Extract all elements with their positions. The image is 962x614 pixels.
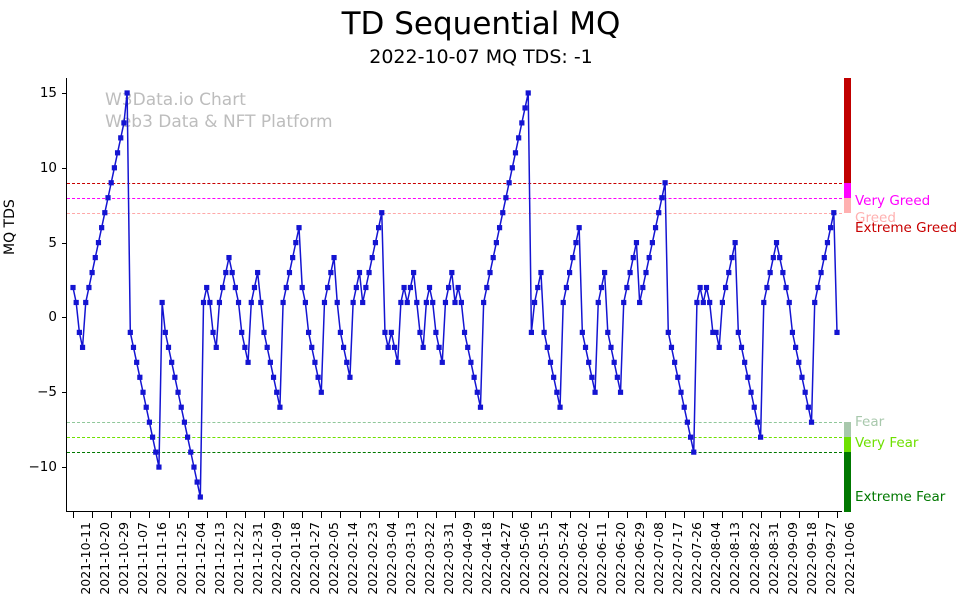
x-tick-label: 2022-09-09 [785, 522, 800, 595]
x-tick-mark [627, 512, 628, 518]
y-tick-label: 15 [17, 85, 57, 101]
x-tick-label: 2021-12-22 [231, 522, 246, 595]
x-tick-label: 2022-02-05 [326, 522, 341, 595]
x-tick-mark [264, 512, 265, 518]
y-tick-mark [62, 168, 68, 169]
x-tick-label: 2021-10-11 [78, 522, 93, 595]
x-tick-label: 2022-05-06 [517, 522, 532, 595]
x-tick-mark [302, 512, 303, 518]
y-tick-label: 0 [17, 309, 57, 325]
x-tick-mark [360, 512, 361, 518]
zone-label-fear: Fear [855, 414, 884, 430]
x-tick-mark [398, 512, 399, 518]
x-tick-label: 2021-12-13 [212, 522, 227, 595]
zone-band-extreme-fear [844, 452, 851, 512]
x-tick-mark [531, 512, 532, 518]
x-tick-mark [665, 512, 666, 518]
x-tick-label: 2022-01-27 [307, 522, 322, 595]
x-tick-mark [207, 512, 208, 518]
x-tick-label: 2022-10-06 [842, 522, 857, 595]
x-tick-mark [188, 512, 189, 518]
zone-label-very-greed: Very Greed [855, 193, 930, 209]
y-tick-mark [62, 93, 68, 94]
x-tick-mark [111, 512, 112, 518]
y-tick-label: −10 [17, 459, 57, 475]
y-tick-label: 5 [17, 235, 57, 251]
y-tick-mark [62, 317, 68, 318]
x-tick-mark [684, 512, 685, 518]
x-tick-label: 2022-03-04 [384, 522, 399, 595]
x-tick-mark [589, 512, 590, 518]
x-tick-label: 2021-10-29 [116, 522, 131, 595]
x-tick-mark [551, 512, 552, 518]
x-tick-mark [379, 512, 380, 518]
series-line-mq-tds [67, 78, 842, 511]
x-tick-mark [474, 512, 475, 518]
y-tick-mark [62, 467, 68, 468]
x-tick-label: 2022-06-11 [594, 522, 609, 595]
x-tick-mark [245, 512, 246, 518]
zone-band-greed [844, 198, 851, 213]
x-tick-label: 2022-03-13 [403, 522, 418, 595]
x-tick-label: 2022-04-18 [479, 522, 494, 595]
x-tick-mark [149, 512, 150, 518]
x-tick-label: 2022-09-18 [804, 522, 819, 595]
plot-inner: W3Data.io Chart Web3 Data & NFT Platform [67, 78, 842, 511]
x-tick-mark [608, 512, 609, 518]
x-tick-label: 2021-11-07 [135, 522, 150, 595]
x-tick-mark [92, 512, 93, 518]
x-tick-label: 2022-05-15 [536, 522, 551, 595]
x-tick-label: 2022-08-13 [727, 522, 742, 595]
x-tick-mark [321, 512, 322, 518]
x-tick-mark [722, 512, 723, 518]
x-tick-label: 2022-01-09 [269, 522, 284, 595]
x-tick-label: 2022-08-22 [747, 522, 762, 595]
y-tick-mark [62, 392, 68, 393]
y-tick-mark [62, 243, 68, 244]
x-tick-label: 2022-07-26 [689, 522, 704, 595]
x-tick-label: 2022-06-29 [632, 522, 647, 595]
zone-band-very-greed [844, 183, 851, 198]
x-tick-label: 2022-04-27 [498, 522, 513, 595]
x-tick-label: 2022-08-04 [708, 522, 723, 595]
x-tick-mark [73, 512, 74, 518]
plot-area: W3Data.io Chart Web3 Data & NFT Platform… [66, 78, 842, 512]
x-tick-label: 2021-10-20 [97, 522, 112, 595]
y-axis-title: MQ TDS [2, 199, 18, 255]
x-tick-label: 2022-08-31 [766, 522, 781, 595]
x-tick-label: 2022-06-02 [575, 522, 590, 595]
x-tick-mark [436, 512, 437, 518]
x-tick-mark [169, 512, 170, 518]
x-tick-mark [417, 512, 418, 518]
x-tick-mark [646, 512, 647, 518]
x-tick-label: 2022-02-23 [365, 522, 380, 595]
x-tick-mark [742, 512, 743, 518]
x-tick-label: 2022-09-27 [823, 522, 838, 595]
zone-band-fear [844, 422, 851, 437]
zone-label-very-fear: Very Fear [855, 435, 918, 451]
zone-label-greed: Greed [855, 210, 896, 226]
x-tick-label: 2022-07-08 [651, 522, 666, 595]
x-tick-label: 2021-11-16 [154, 522, 169, 595]
x-tick-label: 2022-04-09 [460, 522, 475, 595]
x-tick-label: 2021-12-04 [193, 522, 208, 595]
x-tick-label: 2022-03-31 [441, 522, 456, 595]
x-tick-mark [570, 512, 571, 518]
chart-subtitle: 2022-10-07 MQ TDS: -1 [0, 46, 962, 68]
y-tick-label: 10 [17, 160, 57, 176]
x-tick-label: 2022-07-17 [670, 522, 685, 595]
x-tick-label: 2022-03-22 [422, 522, 437, 595]
zone-band-extreme-greed [844, 78, 851, 183]
x-tick-mark [837, 512, 838, 518]
x-tick-mark [799, 512, 800, 518]
x-tick-mark [226, 512, 227, 518]
x-tick-label: 2022-06-20 [613, 522, 628, 595]
zone-band-very-fear [844, 437, 851, 452]
x-tick-mark [340, 512, 341, 518]
chart-page: TD Sequential MQ 2022-10-07 MQ TDS: -1 M… [0, 0, 962, 614]
x-tick-mark [818, 512, 819, 518]
x-tick-label: 2021-12-31 [250, 522, 265, 595]
x-tick-mark [283, 512, 284, 518]
x-tick-label: 2022-05-24 [556, 522, 571, 595]
x-tick-mark [780, 512, 781, 518]
y-tick-label: −5 [17, 384, 57, 400]
x-tick-mark [761, 512, 762, 518]
zone-label-extreme-fear: Extreme Fear [855, 489, 945, 505]
x-tick-mark [493, 512, 494, 518]
x-tick-label: 2022-02-14 [345, 522, 360, 595]
x-tick-mark [455, 512, 456, 518]
page-title: TD Sequential MQ [0, 6, 962, 42]
x-tick-label: 2022-01-18 [288, 522, 303, 595]
x-tick-mark [512, 512, 513, 518]
x-tick-label: 2021-11-25 [174, 522, 189, 595]
x-tick-mark [703, 512, 704, 518]
x-tick-mark [130, 512, 131, 518]
